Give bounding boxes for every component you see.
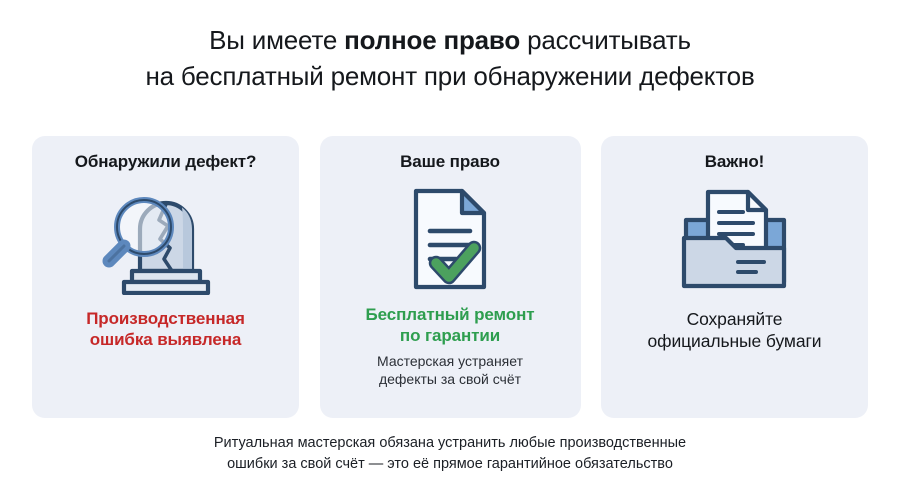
card-heading: Ваше право xyxy=(400,152,500,172)
card-main-text: Бесплатный ремонт по гарантии xyxy=(366,304,535,346)
footer-line-2: ошибки за свой счёт — это её прямое гара… xyxy=(0,454,900,475)
title-part-before: Вы имеете xyxy=(209,25,344,55)
card-main-line-2: по гарантии xyxy=(400,326,500,345)
footer-line-1: Ритуальная мастерская обязана устранить … xyxy=(0,433,900,454)
title-line-2: на бесплатный ремонт при обнаружении деф… xyxy=(0,60,900,92)
document-checkmark-icon xyxy=(398,180,502,298)
card-main-text: Сохраняйте официальные бумаги xyxy=(648,308,822,352)
card-defect-found: Обнаружили дефект? xyxy=(32,136,299,418)
infographic-page: Вы имеете полное право рассчитывать на б… xyxy=(0,0,900,502)
card-main-line-1: Сохраняйте xyxy=(687,309,783,329)
card-main-line-1: Бесплатный ремонт xyxy=(366,305,535,324)
folder-document-icon xyxy=(676,182,794,296)
card-main-line-2: ошибка выявлена xyxy=(90,330,242,349)
card-your-right: Ваше право Бе xyxy=(320,136,581,418)
card-sub-line-1: Мастерская устраняет xyxy=(377,353,523,369)
footer-note: Ритуальная мастерская обязана устранить … xyxy=(0,433,900,475)
title-line-1: Вы имеете полное право рассчитывать xyxy=(0,24,900,56)
cards-row: Обнаружили дефект? xyxy=(32,136,868,418)
card-main-text: Производственная ошибка выявлена xyxy=(86,308,245,350)
card-main-line-2: официальные бумаги xyxy=(648,331,822,351)
card-important: Важно! xyxy=(601,136,868,418)
magnifier-cracked-monument-icon xyxy=(96,180,236,298)
title-emphasis: полное право xyxy=(344,25,520,55)
title-part-after: рассчитывать xyxy=(520,25,691,55)
card-main-line-1: Производственная xyxy=(86,309,245,328)
page-title: Вы имеете полное право рассчитывать на б… xyxy=(0,24,900,92)
card-sub-text: Мастерская устраняет дефекты за свой счё… xyxy=(377,352,523,388)
card-heading: Обнаружили дефект? xyxy=(75,152,257,172)
card-heading: Важно! xyxy=(705,152,765,172)
card-sub-line-2: дефекты за свой счёт xyxy=(379,371,521,387)
